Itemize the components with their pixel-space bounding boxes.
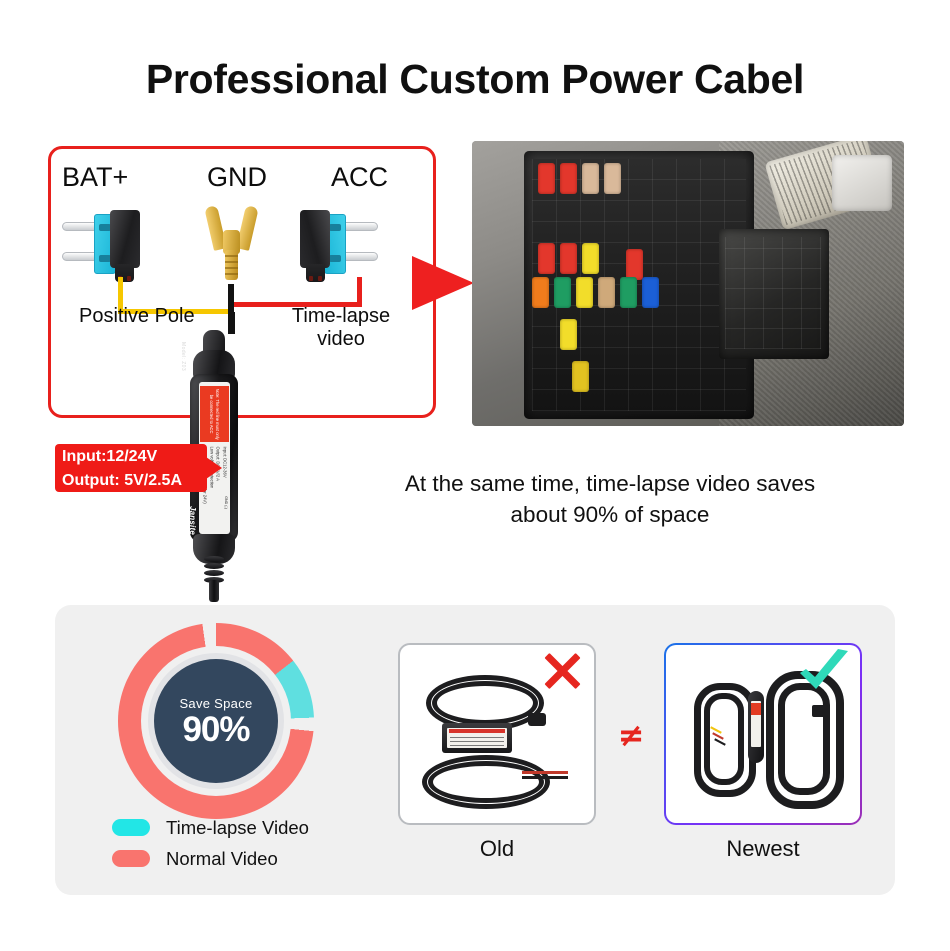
badge-pointer-icon bbox=[206, 457, 222, 479]
space-saving-caption: At the same time, time-lapse video saves… bbox=[375, 468, 845, 530]
donut-center-value: 90% bbox=[182, 712, 249, 747]
fuse-tap-acc-icon bbox=[300, 210, 378, 282]
legend-item-time-lapse: Time-lapse Video bbox=[112, 812, 372, 843]
old-usb-plug-icon bbox=[528, 713, 546, 726]
label-bat-plus: BAT+ bbox=[62, 162, 128, 193]
fuse-box-photo bbox=[472, 141, 904, 426]
old-module-icon bbox=[442, 723, 512, 753]
output-spec: Output: 5V/2.5A bbox=[62, 469, 207, 493]
save-space-donut-chart: Save Space 90% bbox=[118, 623, 314, 819]
donut-center-label: Save Space bbox=[179, 696, 252, 711]
label-positive-pole: Positive Pole bbox=[79, 305, 195, 328]
module-warning-band: Note: The red line must only be connecte… bbox=[200, 386, 229, 442]
old-black-wire bbox=[522, 776, 568, 779]
old-product-card bbox=[398, 643, 596, 825]
fuse-tap-bat-icon bbox=[62, 210, 140, 282]
new-usb-plug-icon bbox=[812, 705, 828, 717]
module-pin-legend: BAT (+) ACC (+) GND (-) bbox=[223, 496, 230, 524]
page-title: Professional Custom Power Cabel bbox=[0, 56, 950, 103]
legend-swatch-time-lapse bbox=[112, 819, 150, 836]
infographic-page: Professional Custom Power Cabel BAT+ GND… bbox=[0, 0, 950, 951]
legend-swatch-normal bbox=[112, 850, 150, 867]
input-spec: Input:12/24V bbox=[62, 445, 207, 469]
red-arrow-icon bbox=[412, 256, 474, 310]
module-brand-text: Jansite bbox=[188, 506, 197, 535]
check-mark-icon bbox=[794, 647, 854, 697]
old-card-caption: Old bbox=[398, 836, 596, 862]
module-model-text: Model: Z03 bbox=[180, 342, 186, 396]
new-inline-module-icon bbox=[748, 691, 764, 763]
newest-card-caption: Newest bbox=[664, 836, 862, 862]
x-mark-icon bbox=[540, 649, 584, 693]
legend-label-time-lapse: Time-lapse Video bbox=[166, 817, 309, 839]
legend-label-normal: Normal Video bbox=[166, 848, 278, 870]
old-red-wire bbox=[522, 771, 568, 774]
not-equal-icon: ≠ bbox=[614, 716, 648, 754]
legend-item-normal: Normal Video bbox=[112, 843, 372, 874]
label-acc: ACC bbox=[331, 162, 388, 193]
ground-fork-terminal-icon bbox=[208, 206, 256, 284]
module-warning-text: Note: The red line must only be connecte… bbox=[208, 386, 220, 442]
newest-product-card bbox=[664, 643, 862, 825]
input-output-badge: Input:12/24V Output: 5V/2.5A bbox=[55, 444, 207, 492]
label-gnd: GND bbox=[207, 162, 267, 193]
chart-legend: Time-lapse Video Normal Video bbox=[112, 812, 372, 874]
label-time-lapse-video: Time-lapse video bbox=[281, 305, 401, 351]
